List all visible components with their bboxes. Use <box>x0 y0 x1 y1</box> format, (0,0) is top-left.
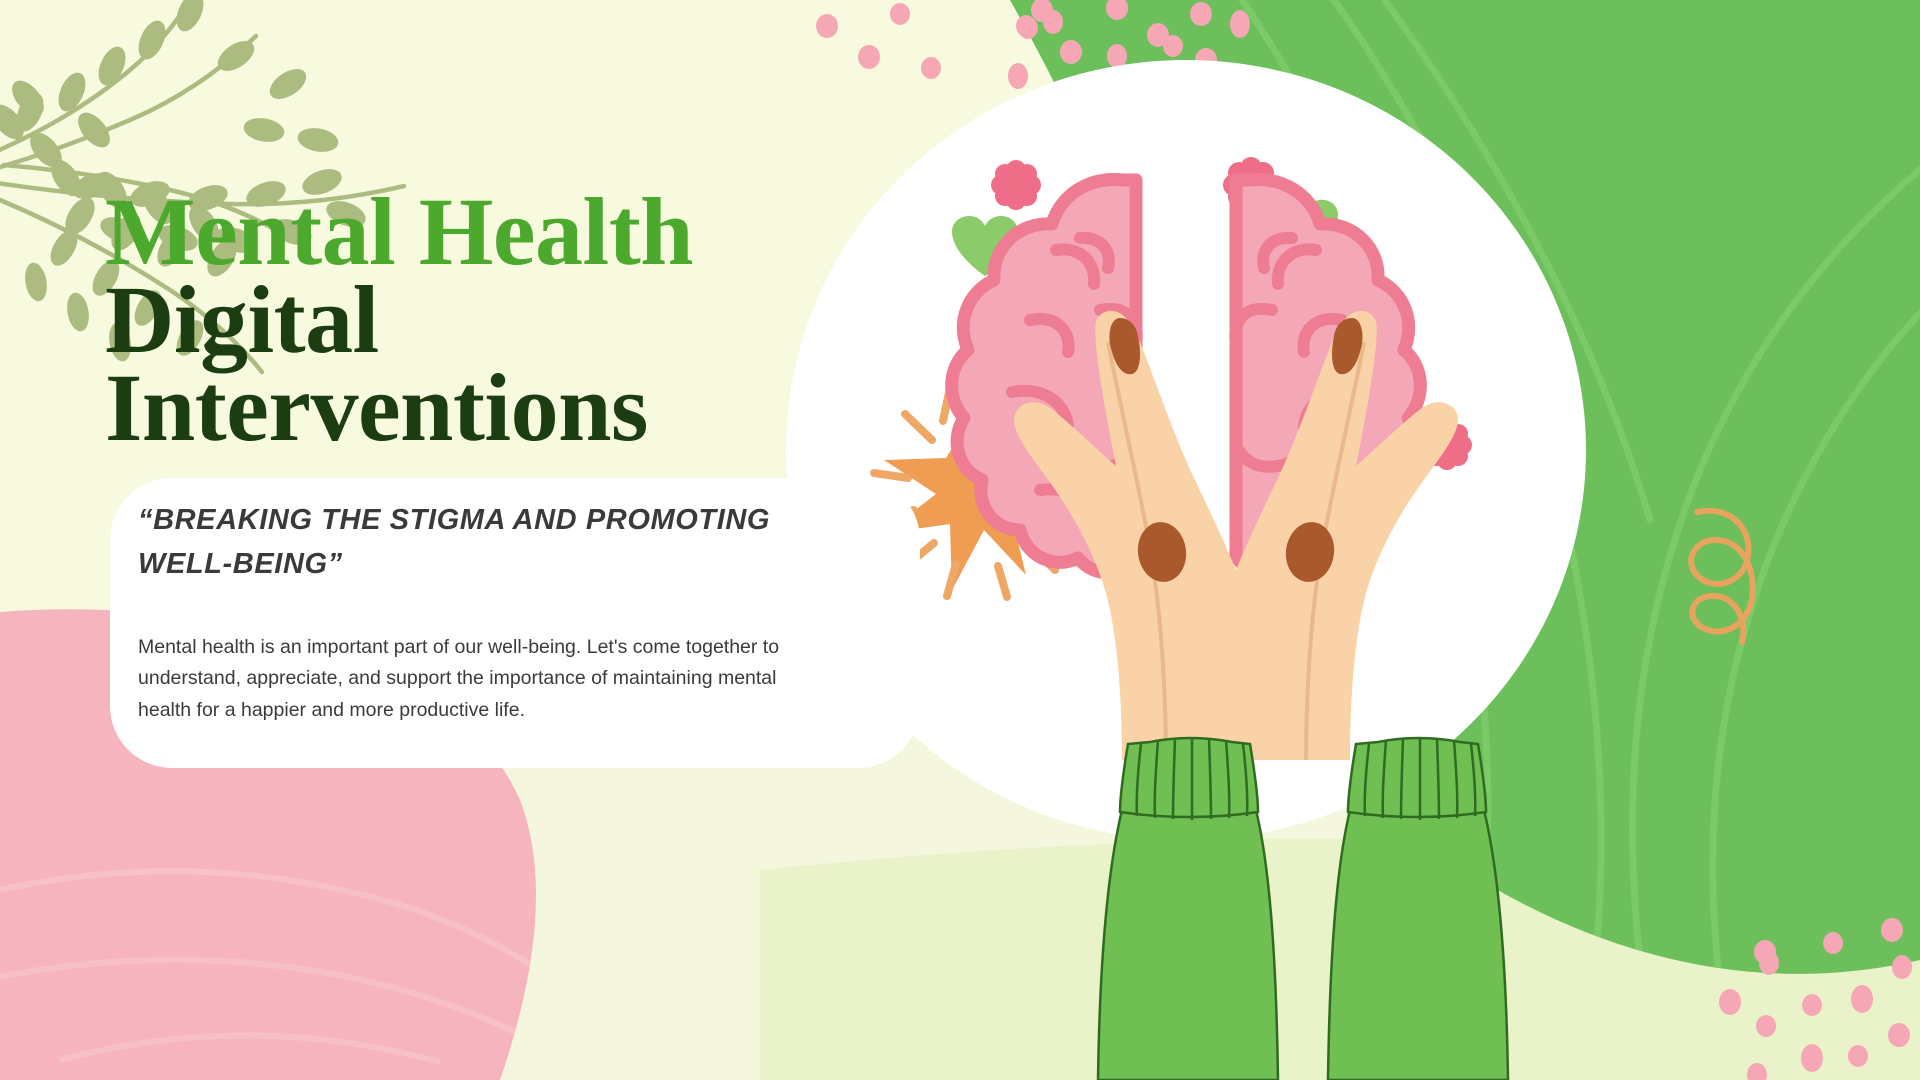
left-sleeve-body <box>1098 810 1278 1080</box>
headline-line-2: Digital <box>105 273 693 367</box>
page-title: Mental Health Digital Interventions <box>105 185 693 455</box>
headline-line-1: Mental Health <box>105 185 693 279</box>
subtitle-quote: “Breaking the Stigma and Promoting Well-… <box>138 498 778 586</box>
right-sleeve-body <box>1328 810 1508 1080</box>
body-paragraph: Mental health is an important part of ou… <box>138 632 810 727</box>
poster-canvas: Mental Health Digital Interventions “Bre… <box>0 0 1920 1080</box>
headline-line-3: Interventions <box>105 361 693 455</box>
